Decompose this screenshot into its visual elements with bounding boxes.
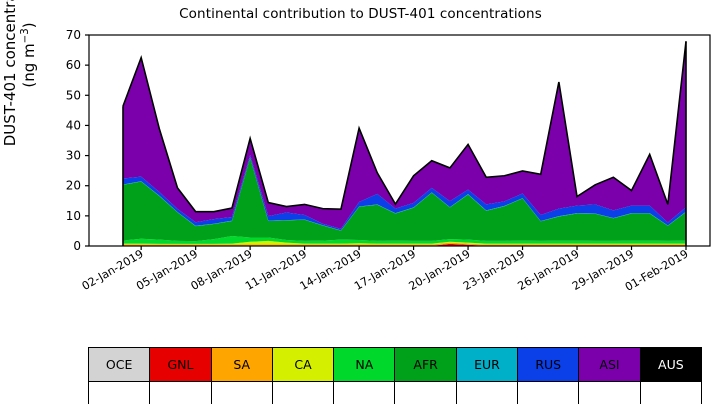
- y-tick-label: 20: [66, 179, 81, 193]
- area-series-asi: [123, 41, 686, 228]
- area-series-group: [123, 41, 686, 246]
- y-tick-label: 30: [66, 149, 81, 163]
- legend-spacer-cell-na: [334, 382, 395, 404]
- y-tick-label: 40: [66, 118, 81, 132]
- y-tick-group: 010203040506070: [66, 28, 89, 253]
- legend-cell-aus[interactable]: AUS: [640, 348, 701, 382]
- legend-cell-rus[interactable]: RUS: [518, 348, 579, 382]
- legend-spacer-cell-oce: [89, 382, 150, 404]
- legend-cell-sa[interactable]: SA: [211, 348, 272, 382]
- y-tick-label: 60: [66, 58, 81, 72]
- legend-cell-gnl[interactable]: GNL: [150, 348, 211, 382]
- x-tick-group: 02-Jan-201905-Jan-201908-Jan-201911-Jan-…: [80, 246, 691, 294]
- legend-cell-ca[interactable]: CA: [272, 348, 333, 382]
- y-tick-label: 10: [66, 209, 81, 223]
- legend-spacer-cell-ca: [272, 382, 333, 404]
- y-tick-label: 50: [66, 88, 81, 102]
- legend-spacer-cell-aus: [640, 382, 701, 404]
- legend-cell-eur[interactable]: EUR: [456, 348, 517, 382]
- legend-spacer-cell-eur: [456, 382, 517, 404]
- legend-cell-afr[interactable]: AFR: [395, 348, 456, 382]
- legend-cell-na[interactable]: NA: [334, 348, 395, 382]
- legend-color-table: OCEGNLSACANAAFREURRUSASIAUS: [88, 347, 702, 404]
- legend-cell-oce[interactable]: OCE: [89, 348, 150, 382]
- legend-spacer-cell-gnl: [150, 382, 211, 404]
- y-tick-label: 0: [73, 239, 81, 253]
- legend-spacer-row: [89, 382, 702, 404]
- legend-spacer-cell-sa: [211, 382, 272, 404]
- legend-row: OCEGNLSACANAAFREURRUSASIAUS: [89, 348, 702, 382]
- chart-page: Continental contribution to DUST-401 con…: [0, 0, 721, 402]
- legend-spacer-cell-rus: [518, 382, 579, 404]
- legend-cell-asi[interactable]: ASI: [579, 348, 640, 382]
- y-tick-label: 70: [66, 28, 81, 42]
- legend-spacer-cell-asi: [579, 382, 640, 404]
- stacked-area-chart: 010203040506070 02-Jan-201905-Jan-201908…: [0, 0, 721, 345]
- legend-spacer-cell-afr: [395, 382, 456, 404]
